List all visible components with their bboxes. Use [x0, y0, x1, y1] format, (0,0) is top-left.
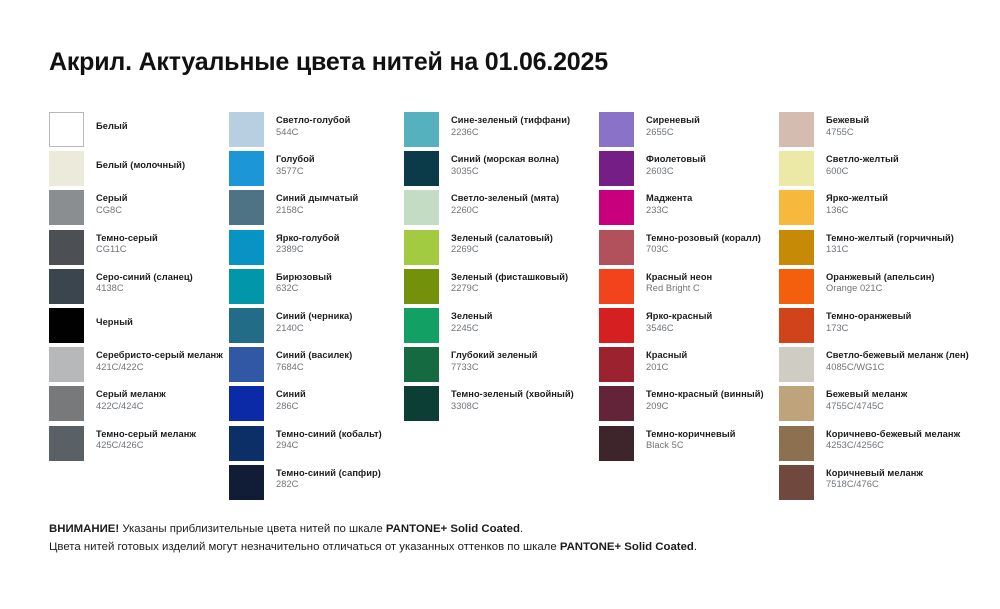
color-chart-page: Акрил. Актуальные цвета нитей на 01.06.2…	[0, 0, 1000, 609]
color-swatch[interactable]	[229, 230, 264, 265]
swatch-name: Бежевый меланж	[826, 389, 1000, 401]
color-swatch[interactable]	[779, 112, 814, 147]
swatch-pantone-code: 282C	[276, 479, 466, 491]
swatch-pantone-code: 173C	[826, 323, 1000, 335]
color-swatch[interactable]	[779, 308, 814, 343]
color-swatch[interactable]	[779, 465, 814, 500]
swatch-name: Коричнево-бежевый меланж	[826, 429, 1000, 441]
swatch-text-block: Темно-синий (сапфир)282C	[276, 463, 466, 491]
color-swatch[interactable]	[49, 151, 84, 186]
color-swatch[interactable]	[229, 269, 264, 304]
swatch-name: Бежевый	[826, 115, 1000, 127]
swatch-text-block: Бежевый4755C	[826, 110, 1000, 138]
swatch-name: Темно-синий (сапфир)	[276, 468, 466, 480]
footer-line-2-brand: PANTONE+ Solid Coated	[560, 541, 694, 553]
color-swatch[interactable]	[229, 308, 264, 343]
swatch-columns-container: БелыйБелый (молочный)СерыйCG8CТемно-серы…	[0, 110, 1000, 505]
footer-line-2: Цвета нитей готовых изделий могут незнач…	[49, 538, 949, 556]
color-swatch[interactable]	[229, 347, 264, 382]
footer-line-1-brand: PANTONE+ Solid Coated	[386, 523, 520, 535]
swatch-pantone-code: 294C	[276, 440, 466, 452]
footer-line-1-period: .	[520, 523, 523, 535]
color-swatch[interactable]	[599, 230, 634, 265]
swatch-text-block: Коричневый меланж7518C/476C	[826, 463, 1000, 491]
swatch-name: Коричневый меланж	[826, 468, 1000, 480]
swatch-pantone-code: 4085C/WG1C	[826, 362, 1000, 374]
color-swatch[interactable]	[599, 112, 634, 147]
page-title: Акрил. Актуальные цвета нитей на 01.06.2…	[49, 48, 608, 77]
swatch-text-block: Коричнево-бежевый меланж4253C/4256C	[826, 424, 1000, 452]
color-swatch[interactable]	[229, 151, 264, 186]
swatch-text-block: Ярко-желтый136C	[826, 188, 1000, 216]
swatch-text-block: Темно-синий (кобальт)294C	[276, 424, 466, 452]
color-swatch[interactable]	[599, 190, 634, 225]
swatch-name: Темно-синий (кобальт)	[276, 429, 466, 441]
swatch-text-block: Оранжевый (апельсин)Orange 021C	[826, 267, 1000, 295]
color-swatch[interactable]	[404, 190, 439, 225]
color-swatch[interactable]	[49, 112, 84, 147]
swatch-pantone-code: 4755C	[826, 127, 1000, 139]
footer-notice: ВНИМАНИЕ! Указаны приблизительные цвета …	[49, 520, 949, 556]
color-swatch[interactable]	[404, 269, 439, 304]
color-swatch[interactable]	[779, 347, 814, 382]
swatch-pantone-code: Orange 021C	[826, 283, 1000, 295]
swatch-pantone-code: 600C	[826, 166, 1000, 178]
footer-line-1: ВНИМАНИЕ! Указаны приблизительные цвета …	[49, 520, 949, 538]
color-swatch[interactable]	[404, 151, 439, 186]
color-swatch[interactable]	[779, 230, 814, 265]
color-swatch[interactable]	[779, 190, 814, 225]
swatch-name: Темно-оранжевый	[826, 311, 1000, 323]
swatch-text-block: Светло-бежевый меланж (лен)4085C/WG1C	[826, 345, 1000, 373]
color-swatch[interactable]	[779, 151, 814, 186]
color-swatch[interactable]	[49, 230, 84, 265]
swatch-text-block: Темно-желтый (горчичный)131C	[826, 228, 1000, 256]
footer-attention-label: ВНИМАНИЕ!	[49, 523, 119, 535]
color-swatch[interactable]	[779, 426, 814, 461]
swatch-pantone-code: 4253C/4256C	[826, 440, 1000, 452]
color-swatch[interactable]	[599, 386, 634, 421]
color-swatch[interactable]	[404, 386, 439, 421]
swatch-name: Темно-желтый (горчичный)	[826, 233, 1000, 245]
swatch-pantone-code: 131C	[826, 244, 1000, 256]
color-swatch[interactable]	[779, 269, 814, 304]
color-swatch[interactable]	[229, 426, 264, 461]
color-swatch[interactable]	[404, 308, 439, 343]
color-swatch[interactable]	[404, 230, 439, 265]
footer-line-2-period: .	[694, 541, 697, 553]
color-swatch[interactable]	[229, 112, 264, 147]
swatch-pantone-code: 7518C/476C	[826, 479, 1000, 491]
color-swatch[interactable]	[229, 465, 264, 500]
swatch-text-block: Бежевый меланж4755C/4745C	[826, 384, 1000, 412]
color-swatch[interactable]	[49, 190, 84, 225]
color-swatch[interactable]	[229, 386, 264, 421]
footer-line-2-text: Цвета нитей готовых изделий могут незнач…	[49, 541, 560, 553]
swatch-name: Светло-бежевый меланж (лен)	[826, 350, 1000, 362]
swatch-name: Ярко-желтый	[826, 193, 1000, 205]
swatch-name: Оранжевый (апельсин)	[826, 272, 1000, 284]
swatch-pantone-code: 136C	[826, 205, 1000, 217]
swatch-text-block: Светло-желтый600C	[826, 149, 1000, 177]
color-swatch[interactable]	[229, 190, 264, 225]
color-swatch[interactable]	[599, 347, 634, 382]
footer-line-1-text: Указаны приблизительные цвета нитей по ш…	[119, 523, 386, 535]
color-swatch[interactable]	[49, 347, 84, 382]
swatch-pantone-code: 4755C/4745C	[826, 401, 1000, 413]
color-swatch[interactable]	[599, 269, 634, 304]
color-swatch[interactable]	[49, 269, 84, 304]
swatch-name: Светло-желтый	[826, 154, 1000, 166]
color-swatch[interactable]	[49, 426, 84, 461]
color-swatch[interactable]	[779, 386, 814, 421]
color-swatch[interactable]	[599, 426, 634, 461]
color-swatch[interactable]	[49, 386, 84, 421]
color-swatch[interactable]	[599, 151, 634, 186]
swatch-text-block: Темно-оранжевый173C	[826, 306, 1000, 334]
color-swatch[interactable]	[404, 347, 439, 382]
color-swatch[interactable]	[49, 308, 84, 343]
color-swatch[interactable]	[599, 308, 634, 343]
color-swatch[interactable]	[404, 112, 439, 147]
